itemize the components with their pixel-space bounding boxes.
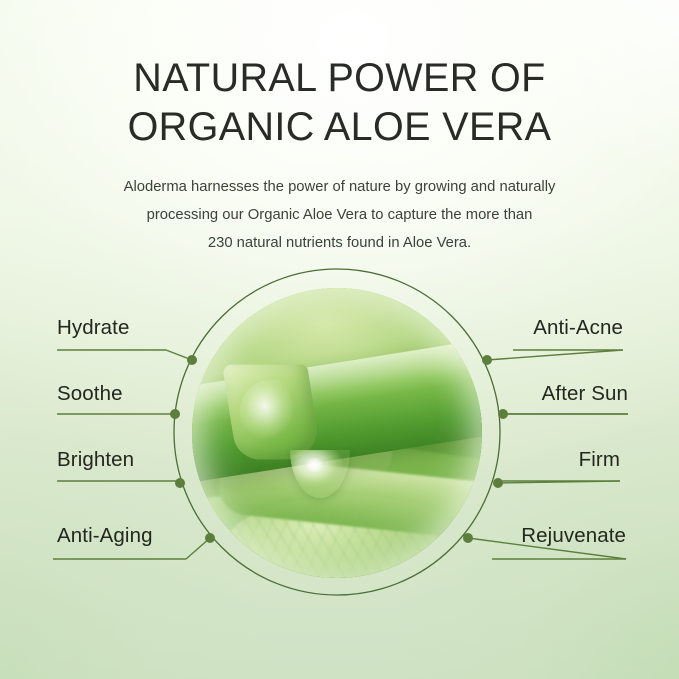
aloe-vera-infographic: NATURAL POWER OF ORGANIC ALOE VERA Alode… [0, 0, 679, 679]
connector-dot [170, 409, 180, 419]
connector-dot [493, 478, 503, 488]
connector-dot [498, 409, 508, 419]
connector-line [487, 350, 623, 360]
benefit-label-after-sun: After Sun [0, 382, 628, 406]
connector-dot [482, 355, 492, 365]
benefit-label-rejuvenate: Rejuvenate [0, 524, 626, 548]
connector-dot [175, 478, 185, 488]
connector-dot [187, 355, 197, 365]
benefit-label-anti-acne: Anti-Acne [0, 316, 623, 340]
benefit-label-firm: Firm [0, 448, 620, 472]
